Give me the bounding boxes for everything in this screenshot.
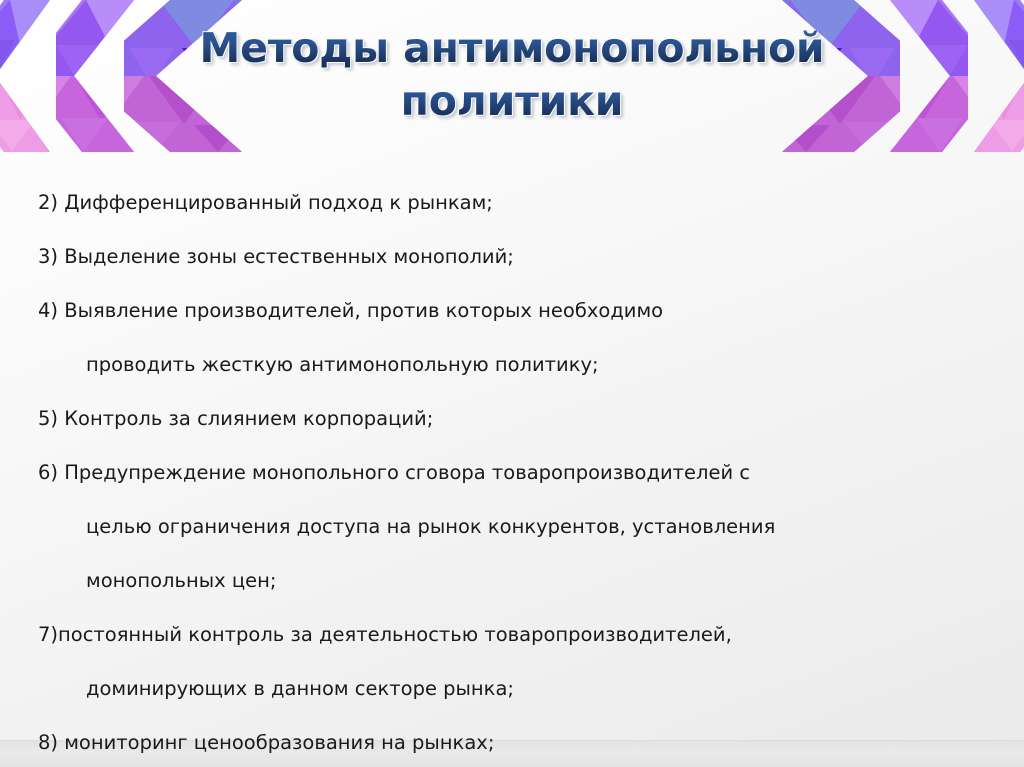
- chevron-right-1-icon: [884, 0, 1024, 152]
- body-line: 4) Выявление производителей, против кото…: [0, 284, 1024, 338]
- body-line: 6) Предупреждение монопольного сговора т…: [0, 446, 1024, 500]
- body-line: монопольных цен;: [0, 554, 1024, 608]
- slide-body-list: 2) Дифференцированный подход к рынкам; 3…: [0, 176, 1024, 767]
- body-line: целью ограничения доступа на рынок конку…: [0, 500, 1024, 554]
- body-line: 3) Выделение зоны естественных монополий…: [0, 230, 1024, 284]
- body-line: 7)постоянный контроль за деятельностью т…: [0, 608, 1024, 662]
- body-line: проводить жесткую антимонопольную полити…: [0, 338, 1024, 392]
- slide-canvas: Методы антимонопольной политики 2) Диффе…: [0, 0, 1024, 767]
- title-line-1: Методы антимонопольной: [190, 22, 834, 75]
- slide-title: Методы антимонопольной политики: [190, 22, 834, 128]
- title-line-2: политики: [190, 75, 834, 128]
- body-line: доминирующих в данном секторе рынка;: [0, 662, 1024, 716]
- body-line: 2) Дифференцированный подход к рынкам;: [0, 176, 1024, 230]
- body-line: 8) мониторинг ценообразования на рынках;: [0, 716, 1024, 767]
- body-line: 5) Контроль за слиянием корпораций;: [0, 392, 1024, 446]
